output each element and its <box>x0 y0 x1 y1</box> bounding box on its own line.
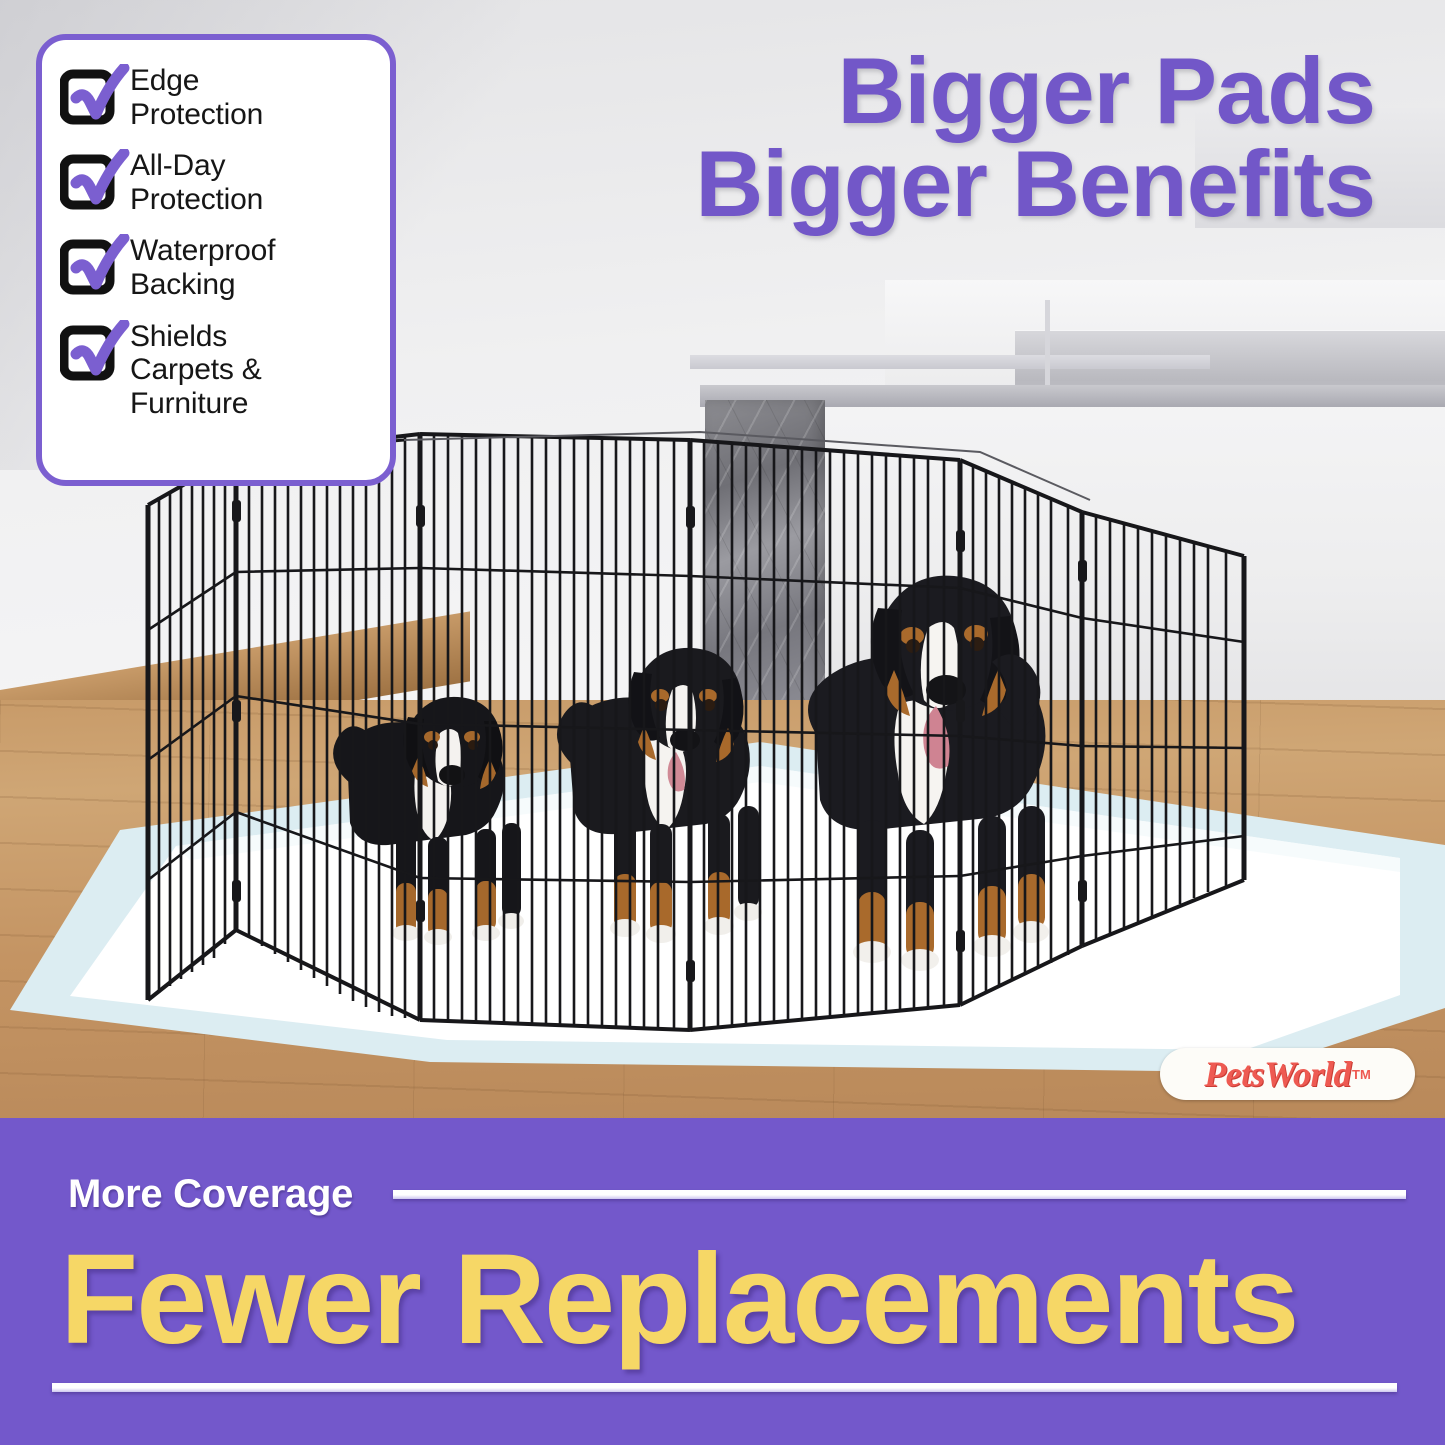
divider-rule-top <box>393 1190 1406 1199</box>
checkbox-check-icon <box>60 149 130 211</box>
feature-item: Shields Carpets & Furniture <box>60 318 374 421</box>
checkbox-check-icon <box>60 234 130 296</box>
product-scene: Edge Protection All-Day Protection <box>0 0 1445 1120</box>
bottom-banner: More Coverage Fewer Replacements <box>0 1118 1445 1445</box>
product-marketing-image: Edge Protection All-Day Protection <box>0 0 1445 1445</box>
feature-label: All-Day Protection <box>130 147 263 216</box>
checkbox-check-icon <box>60 320 130 382</box>
banner-eyebrow: More Coverage <box>68 1172 353 1217</box>
checkbox-check-icon <box>60 64 130 126</box>
page-title: Bigger Pads Bigger Benefits <box>695 44 1375 230</box>
feature-label: Shields Carpets & Furniture <box>130 318 262 421</box>
banner-eyebrow-row: More Coverage <box>68 1172 1408 1217</box>
feature-list-card: Edge Protection All-Day Protection <box>36 34 396 486</box>
headline-line-2: Bigger Benefits <box>695 137 1375 230</box>
brand-logo: PetsWorldTM <box>1160 1048 1415 1100</box>
divider-rule-bottom <box>52 1383 1397 1392</box>
feature-item: Waterproof Backing <box>60 232 374 301</box>
brand-name: PetsWorld <box>1204 1053 1351 1095</box>
feature-item: Edge Protection <box>60 62 374 131</box>
feature-item: All-Day Protection <box>60 147 374 216</box>
feature-label: Edge Protection <box>130 62 263 131</box>
feature-label: Waterproof Backing <box>130 232 275 301</box>
headline-line-1: Bigger Pads <box>695 44 1375 137</box>
trademark-symbol: TM <box>1352 1067 1371 1082</box>
banner-headline: Fewer Replacements <box>60 1236 1297 1364</box>
